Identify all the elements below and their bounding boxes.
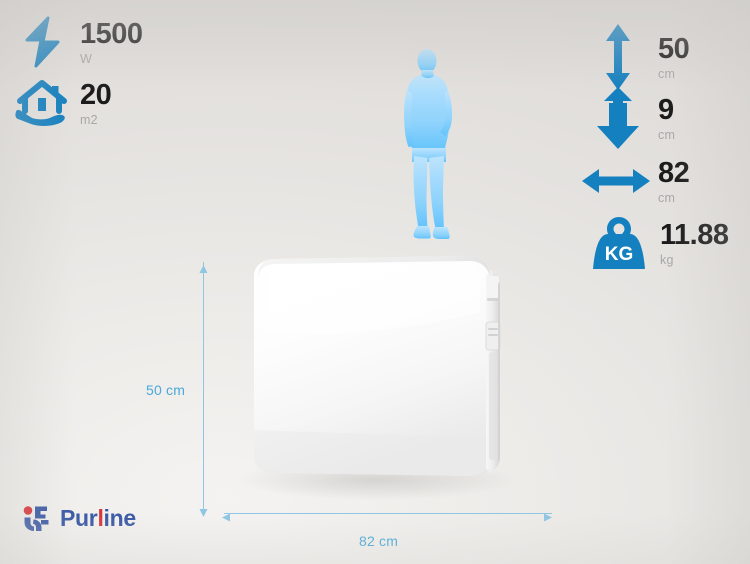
spec-area: 20 m2 xyxy=(12,78,111,128)
spec-width-text: 82 cm xyxy=(658,158,689,205)
spec-depth-unit: cm xyxy=(658,129,675,142)
width-dimension-label: 82 cm xyxy=(359,533,398,549)
person-scale-silhouette xyxy=(394,48,466,240)
width-dimension-arrow-left xyxy=(222,509,230,527)
spec-height-unit: cm xyxy=(658,68,689,81)
spec-weight-value: 11.88 xyxy=(660,220,728,250)
spec-height-value: 50 xyxy=(658,34,689,64)
width-dimension-line xyxy=(224,513,552,514)
kg-weight-icon: KG xyxy=(588,214,650,272)
double-arrow-horizontal-icon xyxy=(580,159,652,203)
purline-logo-text: Purline xyxy=(60,507,136,530)
width-dimension-arrow-right xyxy=(544,509,552,527)
lightning-bolt-icon xyxy=(14,16,70,68)
logo-text-part3: ine xyxy=(104,507,136,530)
spec-weight-unit: kg xyxy=(660,254,728,267)
height-dimension-arrow-top xyxy=(199,260,208,278)
spec-height-text: 50 cm xyxy=(658,34,689,81)
spec-depth: 9 cm xyxy=(592,86,675,150)
double-arrow-vertical-icon xyxy=(592,22,644,92)
purline-logo-mark-icon xyxy=(22,505,52,532)
spec-height: 50 cm xyxy=(592,22,689,92)
spec-width-unit: cm xyxy=(658,192,689,205)
spec-area-value: 20 xyxy=(80,80,111,110)
depth-arrow-icon xyxy=(592,86,644,150)
purline-logo: Purline xyxy=(22,505,136,532)
height-dimension-line xyxy=(203,262,204,512)
logo-text-part1: Pur xyxy=(60,507,97,530)
spec-width-value: 82 xyxy=(658,158,689,188)
product-image-panel-heater xyxy=(232,252,532,502)
spec-power-text: 1500 W xyxy=(80,19,143,66)
spec-power-unit: W xyxy=(80,53,143,66)
spec-weight: KG 11.88 kg xyxy=(588,214,728,272)
house-in-hand-icon xyxy=(12,78,72,128)
spec-width: 82 cm xyxy=(580,158,689,205)
spec-area-text: 20 m2 xyxy=(80,80,111,127)
spec-weight-text: 11.88 kg xyxy=(660,220,728,267)
height-dimension-label: 50 cm xyxy=(146,382,185,398)
spec-power-value: 1500 xyxy=(80,19,143,49)
infographic-canvas: 1500 W 20 m2 xyxy=(0,0,750,564)
spec-power: 1500 W xyxy=(14,16,143,68)
height-dimension-arrow-bottom xyxy=(199,504,208,522)
spec-depth-value: 9 xyxy=(658,95,675,125)
kg-icon-label: KG xyxy=(605,244,634,265)
spec-area-unit: m2 xyxy=(80,114,111,127)
spec-depth-text: 9 cm xyxy=(658,95,675,142)
